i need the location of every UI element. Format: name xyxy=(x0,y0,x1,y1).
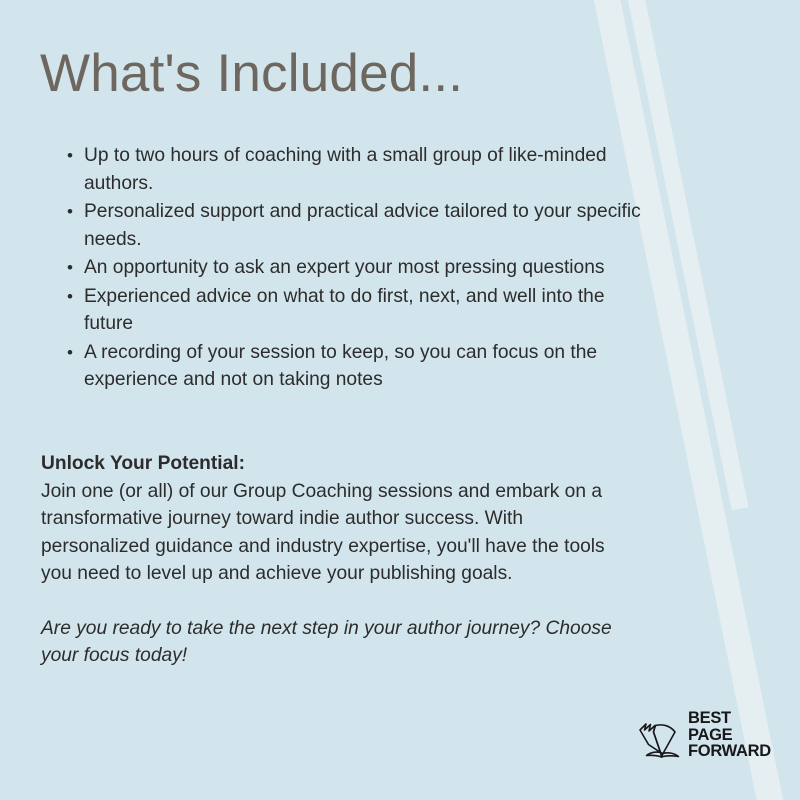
slide-content: What's Included... Up to two hours of co… xyxy=(0,0,800,800)
logo-line-1: BEST xyxy=(688,710,771,727)
closing-prose-block: Unlock Your Potential: Join one (or all)… xyxy=(41,450,631,670)
logo-line-2: PAGE xyxy=(688,727,771,744)
logo-wordmark: BEST PAGE FORWARD xyxy=(688,710,771,760)
list-item: Personalized support and practical advic… xyxy=(84,198,654,253)
brand-logo: BEST PAGE FORWARD xyxy=(630,706,780,776)
slide-canvas: What's Included... Up to two hours of co… xyxy=(0,0,800,800)
open-book-icon xyxy=(630,708,692,770)
prose-call-to-action: Are you ready to take the next step in y… xyxy=(41,615,631,670)
list-item: A recording of your session to keep, so … xyxy=(84,339,654,394)
list-item: An opportunity to ask an expert your mos… xyxy=(84,254,654,282)
prose-lead-heading: Unlock Your Potential: xyxy=(41,450,631,478)
list-item: Experienced advice on what to do first, … xyxy=(84,283,654,338)
logo-line-3: FORWARD xyxy=(688,743,771,760)
prose-body-paragraph: Join one (or all) of our Group Coaching … xyxy=(41,478,631,588)
list-item: Up to two hours of coaching with a small… xyxy=(84,142,654,197)
included-feature-list: Up to two hours of coaching with a small… xyxy=(62,142,654,395)
page-title: What's Included... xyxy=(40,43,463,104)
